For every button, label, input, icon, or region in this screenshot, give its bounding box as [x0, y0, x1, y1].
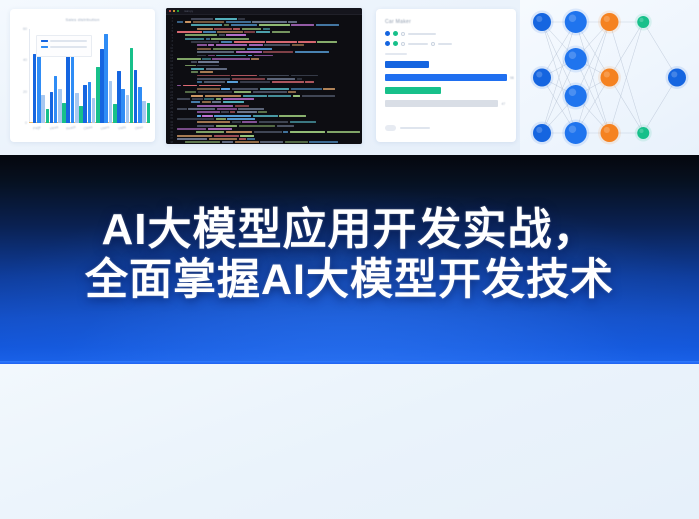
code-token: [242, 28, 262, 30]
code-token: [191, 24, 223, 26]
x-tick-label: Clicks: [83, 125, 93, 131]
code-token: [191, 18, 213, 20]
code-token: [206, 38, 210, 40]
node-highlight: [536, 127, 542, 133]
code-token: [264, 44, 290, 46]
x-tick-label: Visits: [117, 125, 126, 131]
code-token: [191, 61, 197, 63]
legend-item: [41, 40, 87, 42]
code-token: [224, 24, 229, 26]
radio-icon[interactable]: [385, 41, 390, 46]
banner-title-line-2: 全面掌握AI大模型开发技术: [85, 256, 614, 304]
toggle-label: [408, 43, 428, 45]
code-token: [235, 105, 249, 107]
code-token: [231, 24, 257, 26]
close-icon[interactable]: [169, 10, 171, 12]
bar: [92, 98, 96, 123]
bar-chart-legend: [36, 35, 92, 57]
code-editor-body[interactable]: 1234567891011121314151617181920212223242…: [166, 15, 362, 144]
code-token: [254, 55, 273, 57]
code-token: [198, 91, 232, 93]
bar-group: [50, 76, 66, 123]
code-token: [191, 95, 203, 97]
code-token: [259, 121, 289, 123]
top-graphics-strip: Sales distribution 0204060PageViewsReach…: [0, 0, 699, 155]
code-token: [239, 138, 246, 140]
bar-chart-card: Sales distribution 0204060PageViewsReach…: [10, 9, 155, 142]
code-token: [309, 141, 338, 143]
code-token: [196, 131, 224, 133]
x-tick-label: Reach: [66, 125, 76, 131]
toggle-label: [438, 43, 452, 45]
code-token: [217, 108, 237, 110]
bar: [142, 101, 146, 123]
code-token: [177, 85, 181, 87]
code-token: [202, 115, 212, 117]
code-token: [237, 111, 257, 113]
bar-group: [83, 67, 99, 123]
code-token: [198, 61, 219, 63]
y-axis: [29, 29, 30, 123]
code-token: [291, 24, 314, 26]
code-token: [232, 121, 241, 123]
code-editor-titlebar: main.py: [166, 8, 362, 15]
bar: [54, 76, 58, 123]
maximize-icon[interactable]: [177, 10, 179, 12]
neural-net-svg: [520, 0, 699, 155]
neural-network-top: [520, 0, 699, 155]
code-token: [267, 78, 295, 80]
bar: [138, 87, 142, 123]
code-token: [197, 28, 213, 30]
code-token: [185, 38, 205, 40]
code-token: [247, 48, 272, 50]
code-token: [259, 24, 290, 26]
code-token: [251, 58, 258, 60]
code-token: [253, 115, 278, 117]
code-token: [209, 138, 238, 140]
bar: [147, 103, 151, 123]
code-token: [202, 101, 211, 103]
code-content[interactable]: [177, 17, 360, 144]
code-token: [316, 24, 340, 26]
node-highlight: [569, 52, 576, 59]
code-token: [212, 101, 221, 103]
footer-label: [400, 127, 430, 129]
code-token: [272, 81, 304, 83]
code-token: [259, 75, 289, 77]
network-node: [565, 48, 587, 70]
code-token: [268, 95, 291, 97]
code-token: [227, 81, 238, 83]
node-highlight: [604, 127, 610, 133]
code-token: [254, 131, 282, 133]
legend-label: [50, 46, 87, 48]
code-token: [253, 91, 287, 93]
code-token: [215, 18, 237, 20]
code-token: [258, 111, 267, 113]
bar: [41, 95, 45, 123]
code-token: [177, 31, 202, 33]
code-token: [247, 138, 255, 140]
code-token: [238, 18, 245, 20]
code-token: [317, 41, 337, 43]
network-node: [637, 16, 649, 28]
code-token: [216, 55, 246, 57]
node-highlight: [604, 71, 610, 77]
y-tick-label: 60: [23, 27, 27, 31]
x-tick-label: Users: [100, 125, 109, 131]
code-token: [185, 91, 197, 93]
code-token: [232, 88, 258, 90]
code-token: [177, 128, 206, 130]
code-token: [298, 41, 315, 43]
radio-icon[interactable]: [385, 31, 390, 36]
bar: [121, 89, 125, 123]
bar: [75, 93, 79, 123]
code-token: [204, 98, 214, 100]
code-token: [223, 101, 244, 103]
code-token: [197, 125, 215, 127]
banner-title-line-1: AI大模型应用开发实战，: [102, 205, 598, 254]
minimize-icon[interactable]: [173, 10, 175, 12]
code-token: [208, 44, 214, 46]
bottom-graphics-strip: Regional revenue activity Peak period 05…: [0, 364, 699, 519]
checkbox-icon[interactable]: [401, 42, 405, 46]
code-token: [214, 135, 239, 137]
bar: [33, 54, 37, 123]
code-token: [216, 98, 221, 100]
legend-swatch: [41, 40, 48, 42]
bar-group: [66, 54, 82, 123]
code-token: [208, 55, 215, 57]
code-token: [243, 95, 267, 97]
code-token: [239, 125, 275, 127]
code-token: [230, 111, 235, 113]
code-token: [226, 21, 251, 23]
code-token: [203, 31, 216, 33]
code-tab-label[interactable]: main.py: [184, 10, 193, 13]
y-tick-label: 0: [25, 121, 27, 125]
code-token: [199, 85, 221, 87]
network-node: [565, 11, 587, 33]
code-token: [197, 51, 234, 53]
code-token: [197, 78, 231, 80]
bar-chart-title: Sales distribution: [65, 17, 99, 22]
code-token: [226, 34, 245, 36]
code-token: [260, 88, 290, 90]
code-token: [292, 44, 304, 46]
node-highlight: [604, 16, 610, 22]
bar-value-label: 47: [501, 102, 505, 106]
x-tick-label: Views: [49, 125, 59, 131]
code-token: [221, 111, 229, 113]
code-token: [219, 34, 225, 36]
code-token: [216, 118, 226, 120]
y-tick-label: 40: [23, 58, 27, 62]
bar: [66, 56, 70, 123]
bar-group: [33, 53, 49, 124]
node-highlight: [569, 15, 576, 22]
bar: [126, 95, 130, 123]
code-token: [191, 71, 199, 73]
node-highlight: [671, 71, 677, 77]
network-node: [533, 13, 551, 31]
section-label: [385, 53, 407, 55]
bar: [37, 53, 41, 124]
code-token: [177, 138, 207, 140]
code-token: [185, 21, 191, 23]
code-token: [200, 71, 213, 73]
horizontal-bars: 9847: [385, 61, 507, 107]
code-token: [244, 31, 255, 33]
bar: [385, 74, 507, 81]
code-token: [197, 105, 234, 107]
code-token: [177, 98, 190, 100]
network-node: [565, 85, 587, 107]
code-token: [222, 141, 234, 143]
toggle-row[interactable]: [385, 31, 452, 36]
x-tick-label: Other: [134, 125, 143, 131]
code-token: [177, 21, 183, 23]
toggle-row[interactable]: [385, 41, 452, 46]
code-token: [240, 81, 271, 83]
code-token: [256, 31, 270, 33]
code-line-numbers: 1234567891011121314151617181920212223242…: [166, 17, 175, 142]
code-token: [197, 115, 201, 117]
node-highlight: [536, 16, 542, 22]
network-node: [601, 69, 619, 87]
code-token: [291, 75, 318, 77]
code-token: [177, 108, 187, 110]
code-token: [233, 28, 240, 30]
code-token: [327, 131, 360, 133]
code-token: [197, 44, 207, 46]
code-token: [238, 108, 264, 110]
code-token: [235, 141, 259, 143]
network-node: [637, 127, 649, 139]
bar: [100, 49, 104, 123]
code-token: [197, 121, 231, 123]
code-token: [197, 55, 206, 57]
code-token: [191, 101, 200, 103]
bar: [385, 100, 498, 107]
bar: [134, 70, 138, 123]
toggle-label: [408, 33, 436, 35]
code-token: [197, 111, 220, 113]
legend-label: [50, 40, 87, 42]
y-tick-label: 20: [23, 90, 27, 94]
bar: [117, 71, 121, 123]
code-token: [285, 141, 308, 143]
code-editor-card: main.py 12345678910111213141516171819202…: [166, 8, 362, 144]
code-token: [288, 91, 296, 93]
code-token: [231, 75, 257, 77]
bar: [385, 61, 429, 68]
network-node: [565, 122, 587, 144]
code-token: [279, 115, 306, 117]
bar-row: 98: [385, 74, 507, 81]
code-token: [283, 131, 288, 133]
card-title: Car Maker: [385, 19, 411, 25]
code-token: [214, 28, 232, 30]
code-token: [197, 88, 220, 90]
bar: [109, 81, 113, 123]
code-token: [185, 141, 220, 143]
code-token: [216, 44, 248, 46]
code-token: [211, 38, 249, 40]
code-token: [288, 21, 297, 23]
network-node: [533, 69, 551, 87]
bar: [385, 87, 441, 94]
bar-group: [134, 70, 150, 123]
code-token: [248, 55, 252, 57]
node-highlight: [569, 126, 576, 133]
code-token: [221, 41, 233, 43]
code-token: [234, 91, 251, 93]
car-maker-card: Car Maker 9847: [376, 9, 516, 142]
code-token: [290, 121, 316, 123]
code-token: [202, 58, 210, 60]
code-token: [297, 78, 302, 80]
code-token: [205, 95, 242, 97]
code-token: [191, 41, 220, 43]
bar-row: 47: [385, 100, 507, 107]
code-token: [277, 125, 294, 127]
bar-group: [100, 34, 116, 123]
code-token: [252, 21, 286, 23]
node-highlight: [639, 18, 643, 22]
code-token: [191, 68, 205, 70]
code-token: [236, 51, 262, 53]
code-token: [290, 131, 325, 133]
code-token: [193, 21, 225, 23]
code-token: [214, 115, 251, 117]
code-token: [263, 51, 293, 53]
bar: [88, 82, 92, 123]
code-token: [188, 108, 215, 110]
code-token: [226, 131, 253, 133]
code-token: [305, 81, 313, 83]
x-tick-label: Page: [33, 125, 42, 131]
code-token: [295, 51, 329, 53]
code-token: [242, 121, 257, 123]
code-token: [177, 58, 201, 60]
code-token: [217, 31, 243, 33]
bar-row: [385, 61, 507, 68]
code-token: [197, 81, 203, 83]
legend-item: [41, 46, 87, 48]
card-footer[interactable]: [385, 125, 430, 131]
code-token: [232, 78, 265, 80]
bar: [71, 54, 75, 123]
line-number: 38: [170, 141, 173, 144]
code-token: [227, 118, 255, 120]
code-token: [291, 88, 322, 90]
toggle-switch[interactable]: [385, 125, 396, 131]
code-token: [185, 65, 196, 67]
code-token: [197, 65, 219, 67]
code-token: [183, 85, 197, 87]
code-token: [263, 28, 270, 30]
code-token: [185, 34, 218, 36]
code-token: [212, 58, 250, 60]
filter-toggles[interactable]: [385, 31, 452, 46]
bar-group: [117, 48, 133, 123]
bar: [50, 92, 54, 123]
network-node: [533, 124, 551, 142]
bar-row: [385, 87, 507, 94]
node-highlight: [536, 71, 542, 77]
code-token: [213, 48, 246, 50]
bar-value-label: 98: [510, 76, 514, 80]
checkbox-icon[interactable]: [401, 32, 405, 36]
code-token: [240, 135, 254, 137]
code-token: [216, 125, 237, 127]
network-node: [601, 124, 619, 142]
code-token: [197, 75, 230, 77]
code-token: [192, 98, 203, 100]
code-token: [223, 98, 255, 100]
title-banner: AI大模型应用开发实战， 全面掌握AI大模型开发技术: [0, 155, 699, 364]
legend-swatch: [41, 46, 48, 48]
node-highlight: [569, 89, 576, 96]
radio-icon[interactable]: [393, 41, 398, 46]
bar: [58, 89, 62, 123]
code-token: [234, 41, 265, 43]
bar: [83, 85, 87, 123]
code-token: [221, 88, 230, 90]
code-token: [204, 81, 226, 83]
code-token: [323, 88, 334, 90]
code-token: [197, 48, 212, 50]
code-token: [206, 68, 227, 70]
bar: [104, 34, 108, 123]
code-token: [293, 95, 301, 97]
code-token: [272, 31, 291, 33]
code-token: [302, 95, 335, 97]
radio-icon[interactable]: [393, 31, 398, 36]
code-token: [177, 135, 212, 137]
network-node: [601, 13, 619, 31]
code-line: [177, 141, 360, 144]
code-token: [208, 128, 232, 130]
code-token: [249, 44, 263, 46]
checkbox-icon[interactable]: [431, 42, 435, 46]
node-highlight: [639, 129, 643, 133]
code-token: [177, 118, 214, 120]
code-token: [266, 41, 297, 43]
code-token: [260, 141, 283, 143]
network-node: [668, 69, 686, 87]
